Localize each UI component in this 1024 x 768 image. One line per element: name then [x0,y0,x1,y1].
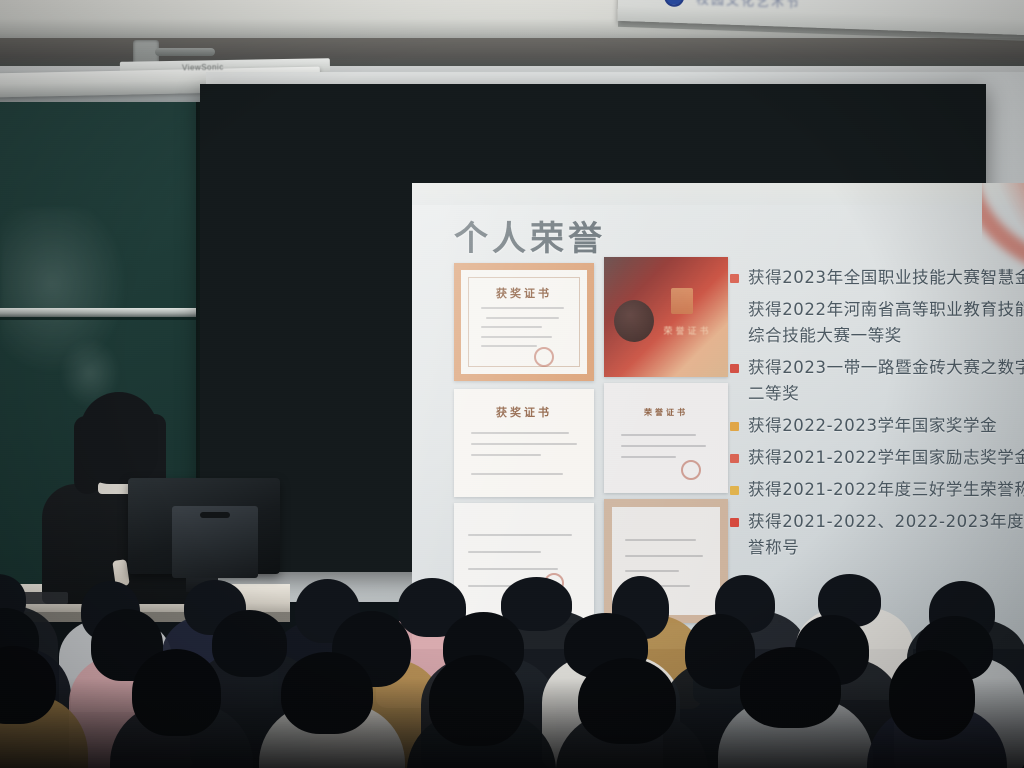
slide-title: 个人荣誉 [454,211,606,260]
bullet-text: 获得2022年河南省高等职业教育技能大赛银行业务综合技能大赛一等奖 [748,297,1024,349]
laptop-hinge [200,512,230,518]
audience-member-head [281,652,373,734]
audience-member-head [740,647,841,728]
audience-member-head [429,655,524,746]
certificate-heading: 荣誉证书 [604,407,728,418]
student-audience [0,560,1024,768]
bullet-text: 获得2023年全国职业技能大赛智慧金融赛项三等奖 [748,265,1024,291]
chalkboard-seam [0,317,212,320]
bullet-marker-icon [730,422,739,431]
school-emblem-icon [664,0,685,7]
bullet-marker-icon [730,454,739,463]
bullet-item-continuation: 获得2022年河南省高等职业教育技能大赛银行业务综合技能大赛一等奖 [748,297,1024,349]
roller-brand-label: ViewSonic [182,63,224,73]
slide-bullet-list: 获得2023年全国职业技能大赛智慧金融赛项三等奖 获得2022年河南省高等职业教… [730,265,1024,567]
bullet-marker-icon [730,518,739,527]
banner-text: 校园文化艺术节 [696,0,996,17]
presenter-hair [80,392,158,484]
audience-member-head [889,650,976,740]
bullet-marker-icon [730,364,739,373]
slide-top-band [412,183,1024,205]
bullet-item: 获得2021-2022、2022-2023年度优秀共青团员荣誉称号 [730,509,1024,561]
certificate-red-cover: 荣誉证书 [604,257,728,377]
bullet-item: 获得2023年全国职业技能大赛智慧金融赛项三等奖 [730,265,1024,291]
bullet-text: 获得2021-2022、2022-2023年度优秀共青团员荣誉称号 [748,509,1024,561]
projector-screen-arm [155,48,215,56]
bullet-text: 获得2021-2022学年国家励志奖学金 [748,445,1024,471]
certificate-scan-top-right: 荣誉证书 [604,383,728,493]
bullet-text: 获得2022-2023学年国家奖学金 [748,413,997,439]
bullet-marker-icon [730,274,739,283]
bullet-item: 获得2022-2023学年国家奖学金 [730,413,1024,439]
bullet-item: 获得2021-2022学年国家励志奖学金 [730,445,1024,471]
chalk-rail [0,308,212,317]
certificate-award-orange-border: 获奖证书 [454,263,594,381]
bullet-item: 获得2023一带一路暨金砖大赛之数字金融应用赛项二等奖 [730,355,1024,407]
classroom-presentation-photo: 校园文化艺术节 ViewSonic 个人荣誉 获奖证书 [0,0,1024,768]
bullet-marker-icon [730,486,739,495]
certificate-award-plain: 获奖证书 [454,389,594,497]
certificate-heading: 荣誉证书 [664,324,712,337]
certificate-heading: 获奖证书 [461,285,587,301]
bullet-text: 获得2023一带一路暨金砖大赛之数字金融应用赛项二等奖 [748,355,1024,407]
audience-member-head [212,610,287,677]
projection-screen-frame: 个人荣誉 获奖证书 荣誉证书 获奖证书 [200,84,986,572]
audience-member-head [132,649,221,736]
bullet-item: 获得2021-2022年度三好学生荣誉称号 [730,477,1024,503]
certificate-heading: 获奖证书 [454,404,594,420]
audience-member-head [578,658,676,744]
bullet-text: 获得2021-2022年度三好学生荣誉称号 [748,477,1024,503]
